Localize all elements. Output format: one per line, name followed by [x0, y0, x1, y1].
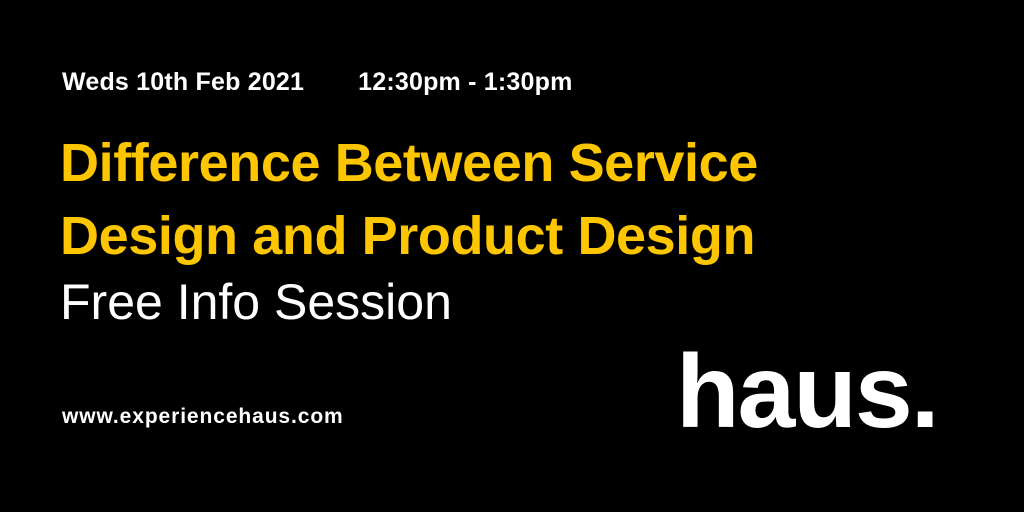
event-promo-banner: Weds 10th Feb 2021 12:30pm - 1:30pm Diff…: [0, 0, 1024, 512]
event-meta-row: Weds 10th Feb 2021 12:30pm - 1:30pm: [62, 70, 573, 95]
event-time: 12:30pm - 1:30pm: [358, 70, 572, 95]
headline-line-2: Design and Product Design: [60, 200, 900, 273]
website-url[interactable]: www.experiencehaus.com: [62, 406, 344, 427]
haus-logo: haus.: [676, 340, 938, 444]
event-headline: Difference Between Service Design and Pr…: [60, 127, 900, 273]
headline-line-1: Difference Between Service: [60, 127, 900, 200]
event-date: Weds 10th Feb 2021: [62, 70, 304, 95]
event-subtitle: Free Info Session: [60, 272, 452, 332]
